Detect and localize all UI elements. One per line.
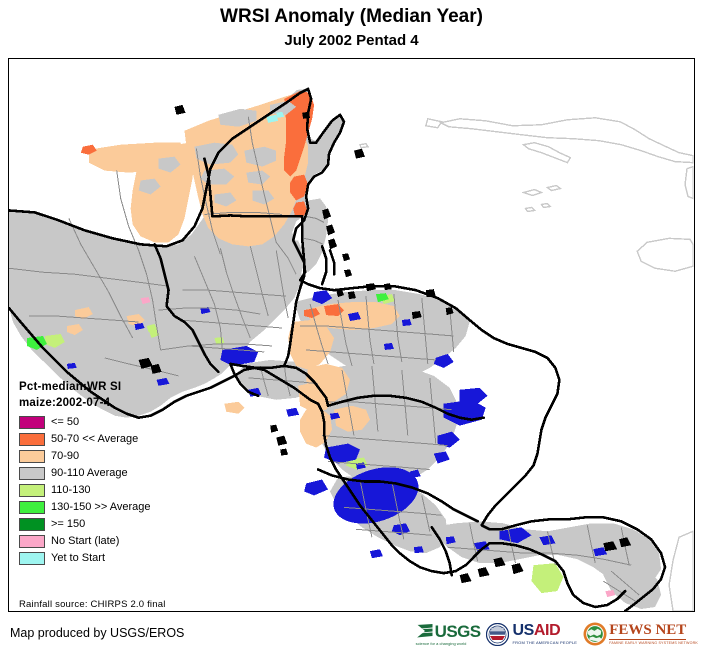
map-frame[interactable]: Pct-median:WR SI maize:2002-07-4 <= 5050… bbox=[8, 58, 695, 612]
legend-row: Yet to Start bbox=[19, 550, 209, 566]
legend-swatch bbox=[19, 518, 45, 531]
fews-globe-icon bbox=[583, 622, 607, 646]
page-subtitle: July 2002 Pentad 4 bbox=[0, 32, 703, 50]
legend-row: 110-130 bbox=[19, 482, 209, 498]
legend-swatch bbox=[19, 484, 45, 497]
legend-swatch bbox=[19, 450, 45, 463]
legend-swatch bbox=[19, 416, 45, 429]
usgs-wordmark: USGS bbox=[435, 623, 481, 640]
legend-label: 130-150 >> Average bbox=[51, 501, 151, 514]
fews-tagline: FAMINE EARLY WARNING SYSTEMS NETWORK bbox=[609, 641, 698, 645]
title-block: WRSI Anomaly (Median Year) July 2002 Pen… bbox=[0, 0, 703, 50]
legend-label: No Start (late) bbox=[51, 535, 119, 548]
legend-swatch bbox=[19, 501, 45, 514]
legend-heading-line2: maize:2002-07-4 bbox=[19, 395, 209, 411]
usaid-seal-icon bbox=[486, 623, 509, 646]
legend-swatch bbox=[19, 433, 45, 446]
legend-row: >= 150 bbox=[19, 516, 209, 532]
usaid-word-aid: AID bbox=[534, 622, 560, 639]
fews-wordmark: FEWS NET bbox=[609, 623, 686, 640]
fews-net-logo[interactable]: FEWS NET FAMINE EARLY WARNING SYSTEMS NE… bbox=[583, 619, 698, 649]
legend-label: Yet to Start bbox=[51, 552, 105, 565]
footer: Map produced by USGS/EROS USGS science f… bbox=[0, 612, 703, 662]
logo-strip: USGS science for a changing world USAID … bbox=[416, 618, 698, 650]
legend-row: 130-150 >> Average bbox=[19, 499, 209, 515]
legend-heading-line1: Pct-median:WR SI bbox=[19, 379, 209, 395]
rainfall-source-note: Rainfall source: CHIRPS 2.0 final bbox=[19, 599, 166, 610]
usaid-logo[interactable]: USAID FROM THE AMERICAN PEOPLE bbox=[486, 619, 577, 649]
legend-label: <= 50 bbox=[51, 416, 79, 429]
legend-row: 90-110 Average bbox=[19, 465, 209, 481]
legend-label: >= 150 bbox=[51, 518, 85, 531]
legend-label: 70-90 bbox=[51, 450, 79, 463]
map-credit: Map produced by USGS/EROS bbox=[10, 626, 184, 640]
usaid-wordmark: USAID bbox=[512, 623, 560, 639]
usgs-tagline: science for a changing world bbox=[416, 641, 467, 646]
legend-label: 90-110 Average bbox=[51, 467, 128, 480]
legend-row: <= 50 bbox=[19, 414, 209, 430]
usgs-logo[interactable]: USGS science for a changing world bbox=[416, 619, 481, 649]
legend-swatch bbox=[19, 552, 45, 565]
legend-row: 70-90 bbox=[19, 448, 209, 464]
legend-swatch bbox=[19, 535, 45, 548]
legend-row: 50-70 << Average bbox=[19, 431, 209, 447]
map-legend: Pct-median:WR SI maize:2002-07-4 <= 5050… bbox=[19, 379, 209, 567]
usgs-wave-icon bbox=[416, 623, 433, 639]
legend-swatch bbox=[19, 467, 45, 480]
legend-row: No Start (late) bbox=[19, 533, 209, 549]
legend-label: 110-130 bbox=[51, 484, 91, 497]
usaid-word-us: US bbox=[512, 622, 533, 639]
legend-label: 50-70 << Average bbox=[51, 433, 138, 446]
usaid-tagline: FROM THE AMERICAN PEOPLE bbox=[512, 640, 577, 645]
legend-items: <= 5050-70 << Average70-9090-110 Average… bbox=[19, 414, 209, 566]
page-title: WRSI Anomaly (Median Year) bbox=[0, 6, 703, 28]
